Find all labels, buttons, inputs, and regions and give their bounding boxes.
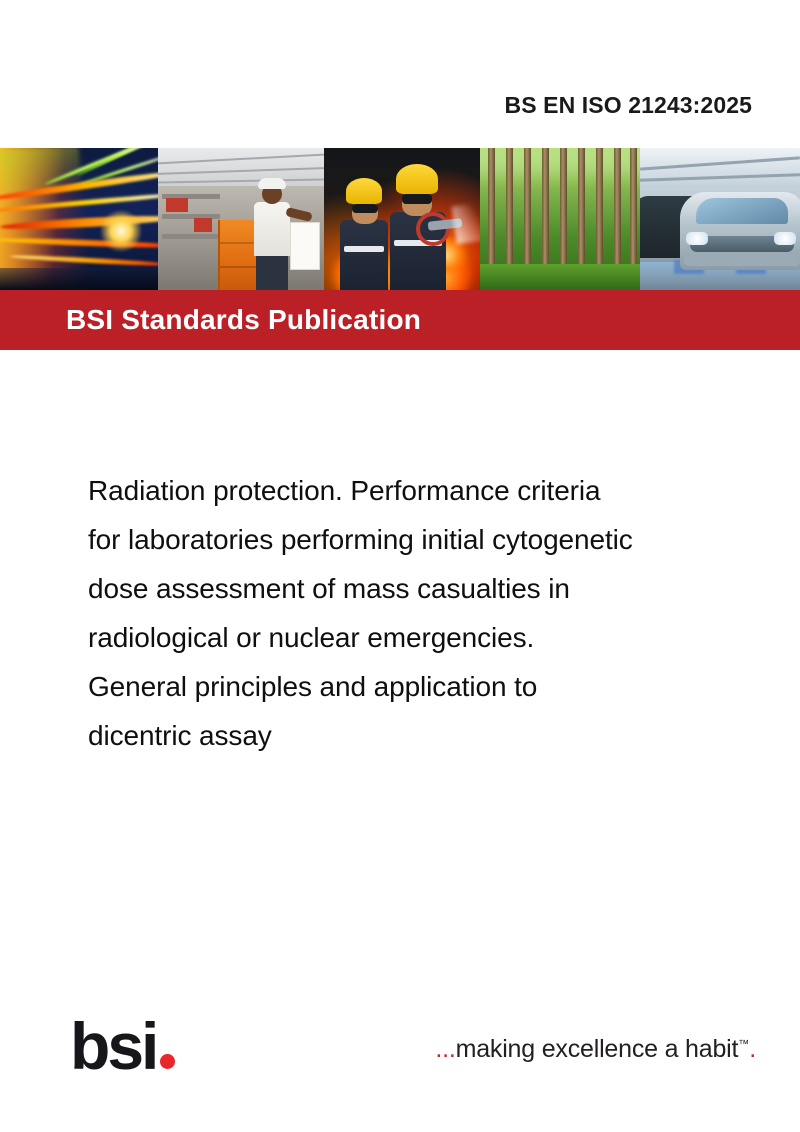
- overhead-rail: [640, 156, 800, 170]
- car-windshield: [696, 198, 788, 224]
- headlight-glow: [100, 210, 142, 252]
- shelf: [162, 234, 220, 239]
- worker-cap: [258, 178, 286, 189]
- car-headlamp: [774, 232, 796, 245]
- image-panel-forest: [480, 148, 640, 290]
- image-panel-night-traffic-light-trails: [0, 148, 158, 290]
- safety-helmet: [346, 178, 382, 204]
- stock-box: [194, 218, 212, 232]
- water-spray: [452, 202, 480, 244]
- safety-helmet: [396, 164, 438, 194]
- title-line: Radiation protection. Performance criter…: [88, 466, 760, 515]
- road: [0, 268, 158, 290]
- title-line: dose assessment of mass casualties in: [88, 564, 760, 613]
- bsi-logo-wordmark: bsi: [70, 1018, 156, 1074]
- tree-trunk: [506, 148, 513, 272]
- standard-number: BS EN ISO 21243:2025: [505, 92, 752, 119]
- ceiling-beam: [158, 154, 324, 165]
- stock-box: [166, 198, 188, 212]
- worker-legs: [256, 254, 288, 290]
- banner-label: BSI Standards Publication: [66, 304, 421, 336]
- overhead-rail: [640, 173, 800, 182]
- tree-trunk: [630, 148, 637, 272]
- tree-trunk: [578, 148, 585, 272]
- tree-trunk: [596, 148, 603, 272]
- light-trail: [10, 254, 158, 267]
- breathing-mask: [402, 194, 432, 204]
- title-line: General principles and application to: [88, 662, 760, 711]
- tree-trunk: [614, 148, 621, 272]
- tagline-period: .: [749, 1035, 756, 1063]
- title-line: for laboratories performing initial cyto…: [88, 515, 760, 564]
- tagline-ellipsis: ...: [435, 1035, 455, 1063]
- bsi-logo-dot-icon: [160, 1054, 175, 1069]
- warehouse-ceiling: [158, 148, 324, 186]
- cover-image-strip: [0, 148, 800, 290]
- image-panel-firefighters: [324, 148, 480, 290]
- tree-trunk: [542, 148, 549, 272]
- forest-floor: [480, 264, 640, 290]
- car-headlamp: [686, 232, 708, 245]
- car-bumper: [684, 254, 800, 266]
- bsi-logo: bsi: [70, 1018, 175, 1074]
- worker-body: [254, 202, 290, 256]
- image-panel-car-assembly-line: [640, 148, 800, 290]
- tree-trunk: [524, 148, 531, 272]
- tree-trunk: [488, 148, 495, 272]
- title-line: radiological or nuclear emergencies.: [88, 613, 760, 662]
- worker-paperwork: [290, 222, 320, 270]
- ceiling-beam: [158, 167, 324, 175]
- hi-vis-stripe: [344, 246, 384, 252]
- bsi-tagline: ...making excellence a habit™.: [435, 1035, 756, 1064]
- trademark-icon: ™: [738, 1039, 749, 1051]
- tagline-text: making excellence a habit: [456, 1035, 739, 1063]
- ceiling-beam: [158, 179, 324, 184]
- cover-page: BS EN ISO 21243:2025: [0, 0, 800, 1132]
- firefighter-body: [340, 220, 388, 290]
- page-title: Radiation protection. Performance criter…: [88, 466, 760, 760]
- plant-ceiling: [640, 148, 800, 188]
- tree-trunk: [560, 148, 567, 272]
- breathing-mask: [352, 204, 378, 213]
- bsi-standards-publication-banner: BSI Standards Publication: [0, 290, 800, 350]
- image-panel-warehouse-worker: [158, 148, 324, 290]
- title-line: dicentric assay: [88, 711, 760, 760]
